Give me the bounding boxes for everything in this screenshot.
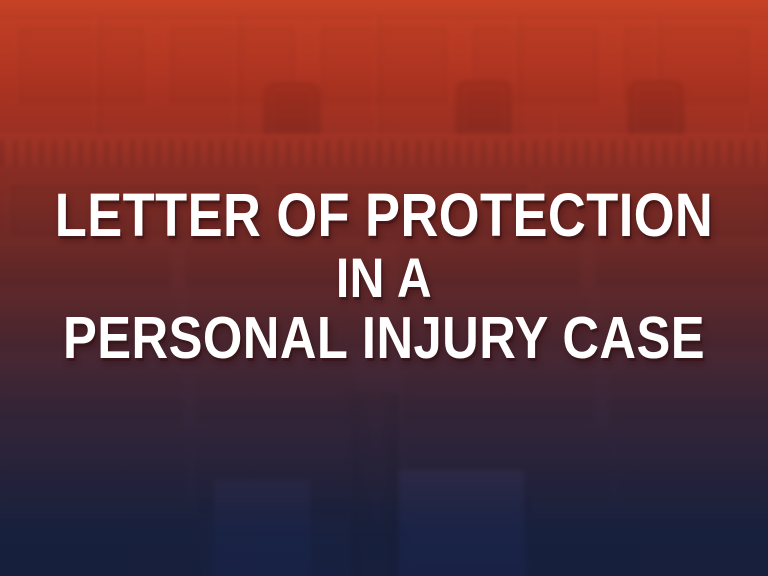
- title-line-3: PERSONAL INJURY CASE: [54, 310, 714, 367]
- page-title: LETTER OF PROTECTION IN A PERSONAL INJUR…: [0, 186, 768, 367]
- hero-banner: LETTER OF PROTECTION IN A PERSONAL INJUR…: [0, 0, 768, 576]
- title-line-1: LETTER OF PROTECTION: [54, 186, 714, 245]
- title-line-2: IN A: [54, 251, 714, 305]
